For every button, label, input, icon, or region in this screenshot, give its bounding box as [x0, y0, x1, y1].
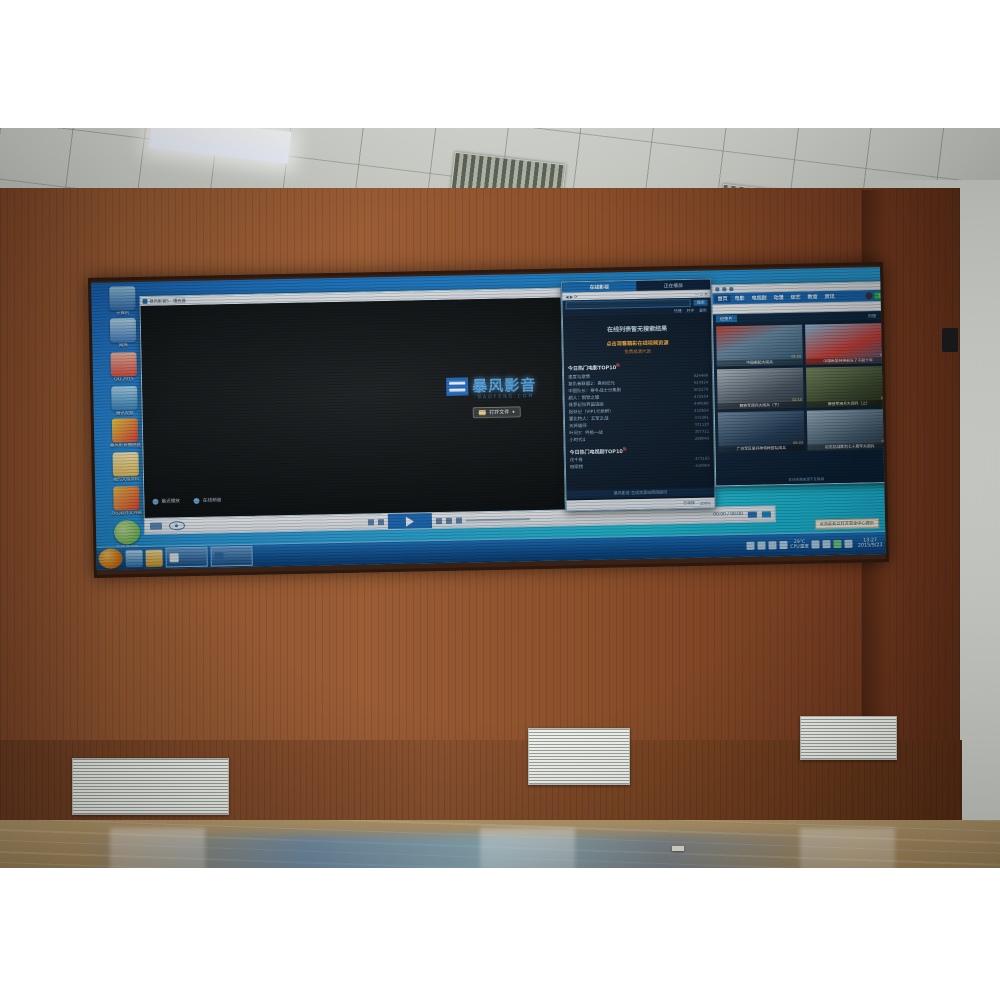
- browser-newtab-icon[interactable]: [729, 287, 733, 291]
- player-footer-links: 最近播放 在线频道: [152, 497, 221, 504]
- clock-date: 2015/9/23: [858, 543, 883, 549]
- tab-now-playing[interactable]: 正在播放: [636, 280, 710, 291]
- office-folder-icon: [113, 486, 139, 511]
- volume-slider[interactable]: [466, 518, 530, 521]
- video-thumbnail[interactable]: 05:33 广州军区某兵种特种部队阅兵: [718, 411, 804, 453]
- player-window-title: 暴风影音5 - 播放器: [149, 298, 185, 305]
- eye-mode-icon[interactable]: [169, 521, 185, 530]
- cpu-temperature-widget[interactable]: 29°C CPU温度: [790, 540, 809, 550]
- taskbar-task-baofeng[interactable]: [165, 547, 207, 568]
- battery-icon[interactable]: [845, 540, 853, 548]
- thumbnail-grid: 01:25 中国崛起大阅兵 01:56 中国新型特种部队了不起十年 02:10 …: [713, 320, 886, 456]
- network-icon[interactable]: [746, 542, 754, 550]
- online-video-taskbar-icon: [215, 552, 224, 561]
- search-icon[interactable]: [865, 292, 872, 299]
- update-icon[interactable]: [779, 541, 787, 549]
- room-photo: 计算机 网络 QQ 2015 腾讯视频 暴风影音播放器: [0, 128, 1000, 868]
- qq-icon: [111, 352, 137, 377]
- online-empty-heading: 在线列表暂无搜索结果: [563, 323, 711, 335]
- window-controls[interactable]: — ▫ ✕: [695, 291, 708, 296]
- section-tag[interactable]: 纪录片: [716, 315, 737, 322]
- settings-button[interactable]: [762, 511, 771, 517]
- rank-section-tv-label: 今日热门电视剧TOP10: [570, 449, 623, 456]
- search-button[interactable]: 搜索: [694, 299, 708, 305]
- open-file-button[interactable]: 打开文件 ▾: [473, 406, 521, 418]
- thumbnail-caption: 中国崛起大阅兵: [717, 359, 803, 367]
- browser-tab-icon: [722, 287, 726, 291]
- baofeng-player-icon: [112, 418, 138, 443]
- next-button[interactable]: [436, 517, 442, 523]
- browser-app-icon: [715, 287, 719, 291]
- online-channel-label: 在线频道: [203, 497, 222, 503]
- stop-button[interactable]: [368, 519, 374, 525]
- taskbar-pin-browser[interactable]: [125, 549, 142, 566]
- list-item[interactable]: 琅琊榜418084: [570, 462, 710, 472]
- control-bar-transport: [368, 511, 530, 529]
- baofeng-player-window[interactable]: 暴风影音5 - 播放器 暴风影音 BAOFENG.COM 打开文件 ▾: [139, 288, 565, 520]
- volume-icon[interactable]: [757, 541, 765, 549]
- item-name: 小时代4: [569, 437, 585, 444]
- previous-button[interactable]: [378, 519, 384, 525]
- browser-footer: 本站资源来源于互联网: [716, 474, 886, 486]
- input-method-icon[interactable]: [812, 540, 820, 548]
- thumbnail-caption: 纪念抗战胜利七十周年大阅兵: [807, 443, 886, 451]
- thumbnail-caption: 广州军区某兵种特种部队阅兵: [719, 445, 805, 453]
- nav-item-news[interactable]: 资讯: [822, 293, 838, 300]
- video-thumbnail[interactable]: 01:56 中国新型特种部队了不起十年: [805, 323, 886, 365]
- volume-icon[interactable]: [456, 517, 462, 523]
- item-name: 叶问3：终极一战: [569, 429, 603, 437]
- tray-tooltip[interactable]: 点击此处以打开安全中心提示: [815, 518, 880, 529]
- item-name: 琅琊榜: [570, 464, 583, 471]
- video-thumbnail[interactable]: 00:59 纪念抗战胜利七十周年大阅兵: [806, 409, 885, 451]
- wall-air-vent-right: [800, 716, 897, 760]
- video-thumbnail[interactable]: 01:25 中国崛起大阅兵: [716, 325, 802, 367]
- fullscreen-button[interactable]: [748, 511, 757, 517]
- filter-newest[interactable]: 最新: [699, 307, 707, 313]
- online-rank-list: 今日热门电影TOP10热 速度与激情824486 复仇者联盟2：奥创纪元5234…: [564, 361, 714, 471]
- hot-badge-icon: 热: [616, 363, 620, 367]
- stage-light-sheen: [480, 828, 575, 868]
- media-player-icon: [114, 520, 140, 545]
- folder-icon: [479, 410, 486, 415]
- rank-section-title: 今日热门电影TOP10热: [568, 362, 708, 372]
- hot-badge-icon: 热: [623, 447, 627, 451]
- start-button[interactable]: [98, 548, 122, 568]
- tencent-video-icon: [111, 386, 137, 411]
- baofeng-brand-cn: 暴风影音: [472, 374, 536, 396]
- chevron-down-icon[interactable]: ▾: [512, 409, 515, 415]
- nav-item-education[interactable]: 教育: [805, 293, 821, 300]
- baofeng-mark-icon: [446, 377, 468, 395]
- antivirus-icon[interactable]: [834, 540, 842, 548]
- folder-icon: [113, 452, 139, 477]
- network-icon: [110, 318, 136, 343]
- recent-icon: [152, 499, 158, 505]
- baofeng-brand-en: BAOFENG.COM: [478, 394, 535, 400]
- open-file-label: 打开文件: [489, 409, 509, 416]
- stage-light-sheen: [110, 828, 205, 868]
- toolbar-hint: ◀ ▶ ⟳: [565, 294, 577, 299]
- browser-footer-note: 本站资源来源于互联网: [788, 477, 824, 483]
- video-thumbnail[interactable]: 03:24 解放军阅兵大阅兵（上）: [805, 366, 885, 408]
- nav-item-tv[interactable]: 电视剧: [749, 294, 770, 301]
- chevron-up-icon[interactable]: [823, 540, 831, 548]
- security-icon[interactable]: [768, 541, 776, 549]
- player-video-area[interactable]: 暴风影音 BAOFENG.COM 打开文件 ▾ 最近播放: [141, 298, 565, 519]
- control-bar-left: [145, 521, 185, 531]
- time-display: 00:00 / 00:00: [713, 512, 743, 518]
- control-bar-right: 00:00 / 00:00: [713, 511, 775, 518]
- online-channel-link[interactable]: 在线频道: [194, 497, 222, 504]
- online-panel-status-bar: 已连接 100%: [567, 497, 715, 510]
- rank-section-title: 今日热门电视剧TOP10热: [570, 445, 710, 455]
- recent-played-label: 最近播放: [161, 498, 180, 504]
- status-progress: 100%: [700, 500, 711, 505]
- play-icon: [406, 516, 414, 526]
- taskbar-clock[interactable]: 13:27 2015/9/23: [856, 538, 883, 550]
- promo-line-2: 免费高清片源: [564, 348, 712, 357]
- video-browser-window[interactable]: 首页 电影 电视剧 动漫 综艺 教育 资讯 搜索 纪录片: [711, 281, 885, 487]
- nav-item-home[interactable]: 首页: [714, 295, 730, 302]
- item-count: 418084: [695, 462, 710, 469]
- item-count: 288043: [695, 434, 710, 441]
- wall-air-vent-center: [528, 728, 630, 785]
- taskbar-pin-folder[interactable]: [145, 549, 162, 566]
- paper-on-stage: [672, 846, 684, 851]
- item-name: 霍比特人：五军之战: [569, 415, 609, 423]
- thumbnail-caption: 中国新型特种部队了不起十年: [805, 357, 885, 365]
- tab-online-video[interactable]: 在线影视: [562, 281, 636, 292]
- cpu-temperature-label: CPU温度: [790, 545, 809, 550]
- led-video-wall: 计算机 网络 QQ 2015 腾讯视频 暴风影音播放器: [88, 262, 889, 578]
- channel-icon: [194, 498, 200, 504]
- online-video-panel[interactable]: 在线影视 正在播放 ◀ ▶ ⟳ — ▫ ✕ 搜索 热播 好评 最新: [561, 278, 716, 511]
- filter-rating[interactable]: 好评: [687, 307, 695, 313]
- system-tray: 29°C CPU温度 13:27 2015/9/23 点击此处以打开安全中心提示: [746, 538, 885, 552]
- screenshot-root: 计算机 网络 QQ 2015 腾讯视频 暴风影音播放器: [0, 0, 1000, 1000]
- filter-hot[interactable]: 热播: [674, 308, 682, 314]
- rank-section-movies-label: 今日热门电影TOP10: [568, 365, 616, 372]
- wall-air-vent-left: [72, 758, 229, 815]
- led-wall-display: 计算机 网络 QQ 2015 腾讯视频 暴风影音播放器: [91, 267, 886, 570]
- section-link-hot[interactable]: 热播: [868, 313, 876, 319]
- mute-button[interactable]: [446, 517, 452, 523]
- taskbar-task-online-video[interactable]: [210, 546, 252, 567]
- player-app-icon: [142, 299, 147, 304]
- play-button[interactable]: [388, 513, 432, 529]
- status-connection: 已连接: [683, 500, 695, 506]
- playlist-icon[interactable]: [150, 523, 162, 530]
- online-panel-footer: 暴风影音 在线资源由网络提供: [566, 487, 714, 498]
- nav-item-variety[interactable]: 综艺: [788, 294, 804, 301]
- nav-item-anime[interactable]: 动漫: [771, 294, 787, 301]
- thumbnail-caption: 解放军阅兵大阅兵（上）: [806, 400, 886, 408]
- computer-icon: [109, 286, 135, 311]
- video-thumbnail[interactable]: 02:10 解放军阅兵大阅兵（下）: [717, 368, 803, 410]
- nav-item-movies[interactable]: 电影: [731, 295, 747, 302]
- stage-light-sheen: [800, 828, 895, 868]
- baofeng-taskbar-icon: [170, 553, 179, 562]
- recent-played-link[interactable]: 最近播放: [152, 498, 180, 505]
- wall-speaker: [942, 328, 958, 352]
- thumbnail-caption: 解放军阅兵大阅兵（下）: [718, 402, 804, 410]
